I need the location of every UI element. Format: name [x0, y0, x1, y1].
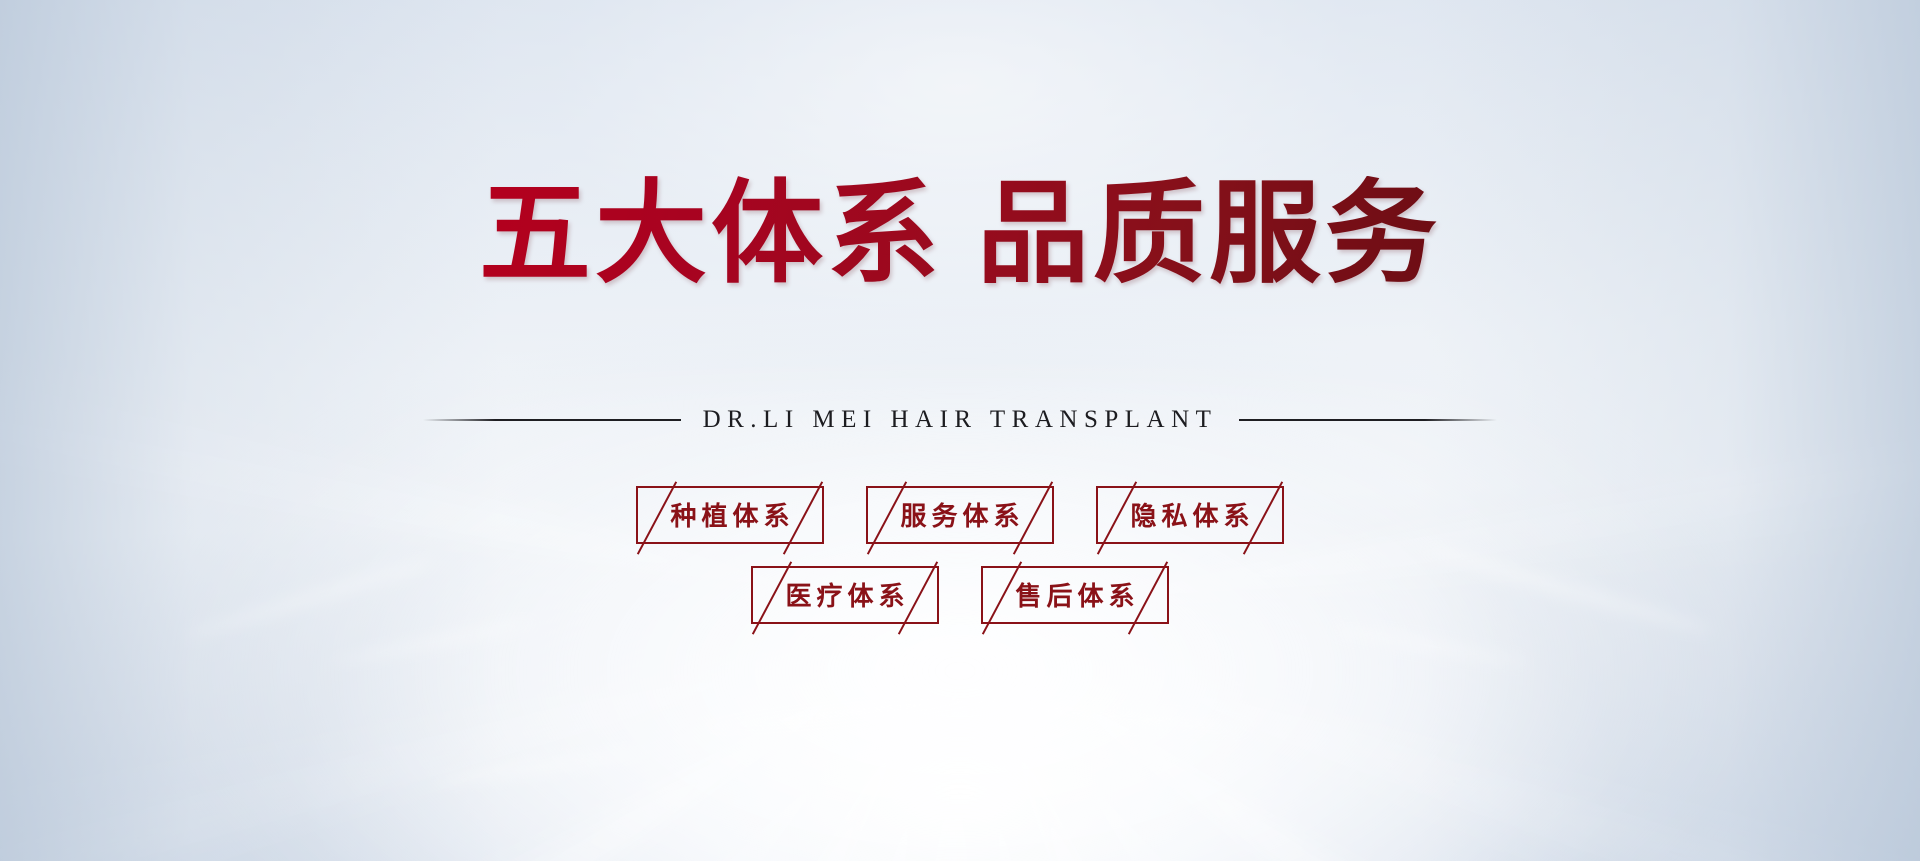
tag-row-secondary: 医疗体系 售后体系 [751, 566, 1169, 624]
service-system-tag-group: 种植体系 服务体系 隐私体系 医疗体系 [636, 486, 1284, 624]
tag-row-primary: 种植体系 服务体系 隐私体系 [636, 486, 1284, 544]
tag-implant-system[interactable]: 种植体系 [636, 486, 824, 544]
tag-label: 种植体系 [665, 496, 794, 533]
tag-medical-system[interactable]: 医疗体系 [751, 566, 939, 624]
hair-transplant-promo-banner: 五大体系品质服务 DR.LI MEI HAIR TRANSPLANT 种植体系 … [0, 0, 1920, 861]
page-title: 五大体系品质服务 [479, 176, 1441, 295]
divider-rule-right [1239, 419, 1497, 421]
tag-service-system[interactable]: 服务体系 [866, 486, 1054, 544]
banner-content: 五大体系品质服务 DR.LI MEI HAIR TRANSPLANT 种植体系 … [0, 0, 1920, 861]
subtitle-row: DR.LI MEI HAIR TRANSPLANT [423, 406, 1498, 434]
tag-label: 服务体系 [895, 496, 1024, 533]
tag-label: 售后体系 [1010, 576, 1139, 613]
tag-privacy-system[interactable]: 隐私体系 [1096, 486, 1284, 544]
headline-segment-two: 品质服务 [977, 173, 1441, 297]
tag-label: 隐私体系 [1125, 496, 1254, 533]
tag-aftersales-system[interactable]: 售后体系 [981, 566, 1169, 624]
divider-rule-left [423, 419, 681, 421]
headline-segment-one: 五大体系 [479, 173, 943, 297]
tag-label: 医疗体系 [780, 576, 909, 613]
subtitle-text: DR.LI MEI HAIR TRANSPLANT [703, 406, 1218, 434]
